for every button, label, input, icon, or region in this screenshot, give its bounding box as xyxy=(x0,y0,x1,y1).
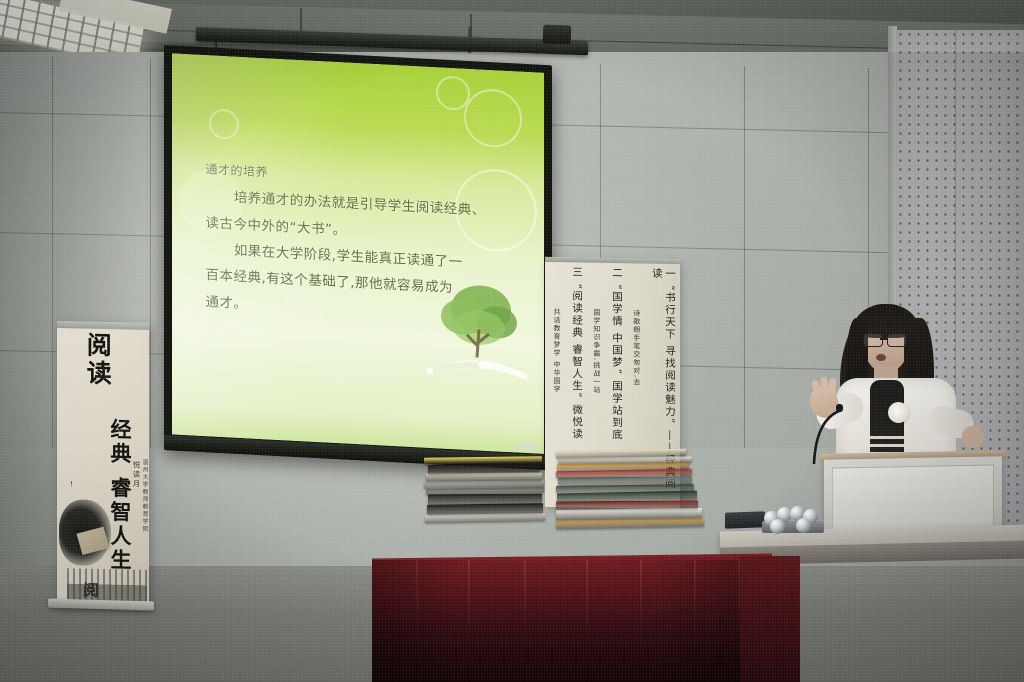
banner-top-rail xyxy=(545,257,680,264)
top-stripe xyxy=(870,444,904,447)
book xyxy=(556,508,702,520)
projection-screen[interactable]: 通才的培养 培养通才的办法就是引导学生阅读经典、 读古今中外的“大书”。 如果在… xyxy=(164,45,552,470)
left-book-stack[interactable] xyxy=(424,412,554,522)
left-rollup-banner[interactable]: 阅 阅读 经典 睿智人生 悦读月 温州大学教师教育学院 xyxy=(57,321,149,608)
electronic-device[interactable] xyxy=(725,511,765,528)
presenter-mouth xyxy=(876,354,886,361)
award-trophy[interactable] xyxy=(762,505,824,535)
slide-bubble-decor xyxy=(436,75,470,111)
presentation-slide: 通才的培养 培养通才的办法就是引导学生阅读经典、 读古今中外的“大书”。 如果在… xyxy=(172,53,544,453)
slide-bubble-decor xyxy=(209,109,239,141)
left-banner-title: 阅读 xyxy=(84,332,110,389)
presenter-right-hand xyxy=(962,426,984,448)
left-banner-organization: 温州大学教师教育学院 xyxy=(140,459,149,533)
table-cloth-shading xyxy=(372,560,772,682)
table-cloth-right xyxy=(740,556,800,682)
left-banner-subtitle: 经典 睿智人生 xyxy=(105,418,135,573)
book xyxy=(428,494,542,505)
screen-canvas: 通才的培养 培养通才的办法就是引导学生阅读经典、 读古今中外的“大书”。 如果在… xyxy=(172,53,544,453)
ceiling-seam xyxy=(300,8,302,32)
right-book-stack[interactable] xyxy=(556,398,716,528)
glasses-bridge-icon xyxy=(880,338,887,340)
book xyxy=(426,473,542,482)
top-stripe xyxy=(870,436,904,439)
right-banner-subcolumn-2: 国学知识争霸,挑战一站 xyxy=(592,309,601,395)
trophy-sphere xyxy=(796,518,811,533)
lecture-hall-scene: 通才的培养 培养通才的办法就是引导学生阅读经典、 读古今中外的“大书”。 如果在… xyxy=(0,0,1024,682)
presenter-finger xyxy=(820,377,829,393)
flower-corsage-icon xyxy=(888,402,909,423)
banner-top-rail xyxy=(57,321,149,330)
glasses-icon xyxy=(863,333,883,347)
screen-motor-cap-icon xyxy=(543,25,572,45)
microphone-head-icon xyxy=(836,404,843,412)
glasses-icon xyxy=(887,333,907,347)
tree-on-book-icon xyxy=(409,272,529,388)
slide-bubble-decor xyxy=(464,88,522,149)
trophy-sphere xyxy=(770,519,785,534)
presenter-finger xyxy=(828,378,836,393)
banner-bottom-char: 阅 xyxy=(83,577,99,601)
book xyxy=(427,503,543,515)
right-banner-subcolumn-1: 诗歌朗手笔交匆对,去 xyxy=(632,309,641,386)
right-banner-subcolumn-3: 共话教育梦学 中华国学 xyxy=(552,308,561,394)
